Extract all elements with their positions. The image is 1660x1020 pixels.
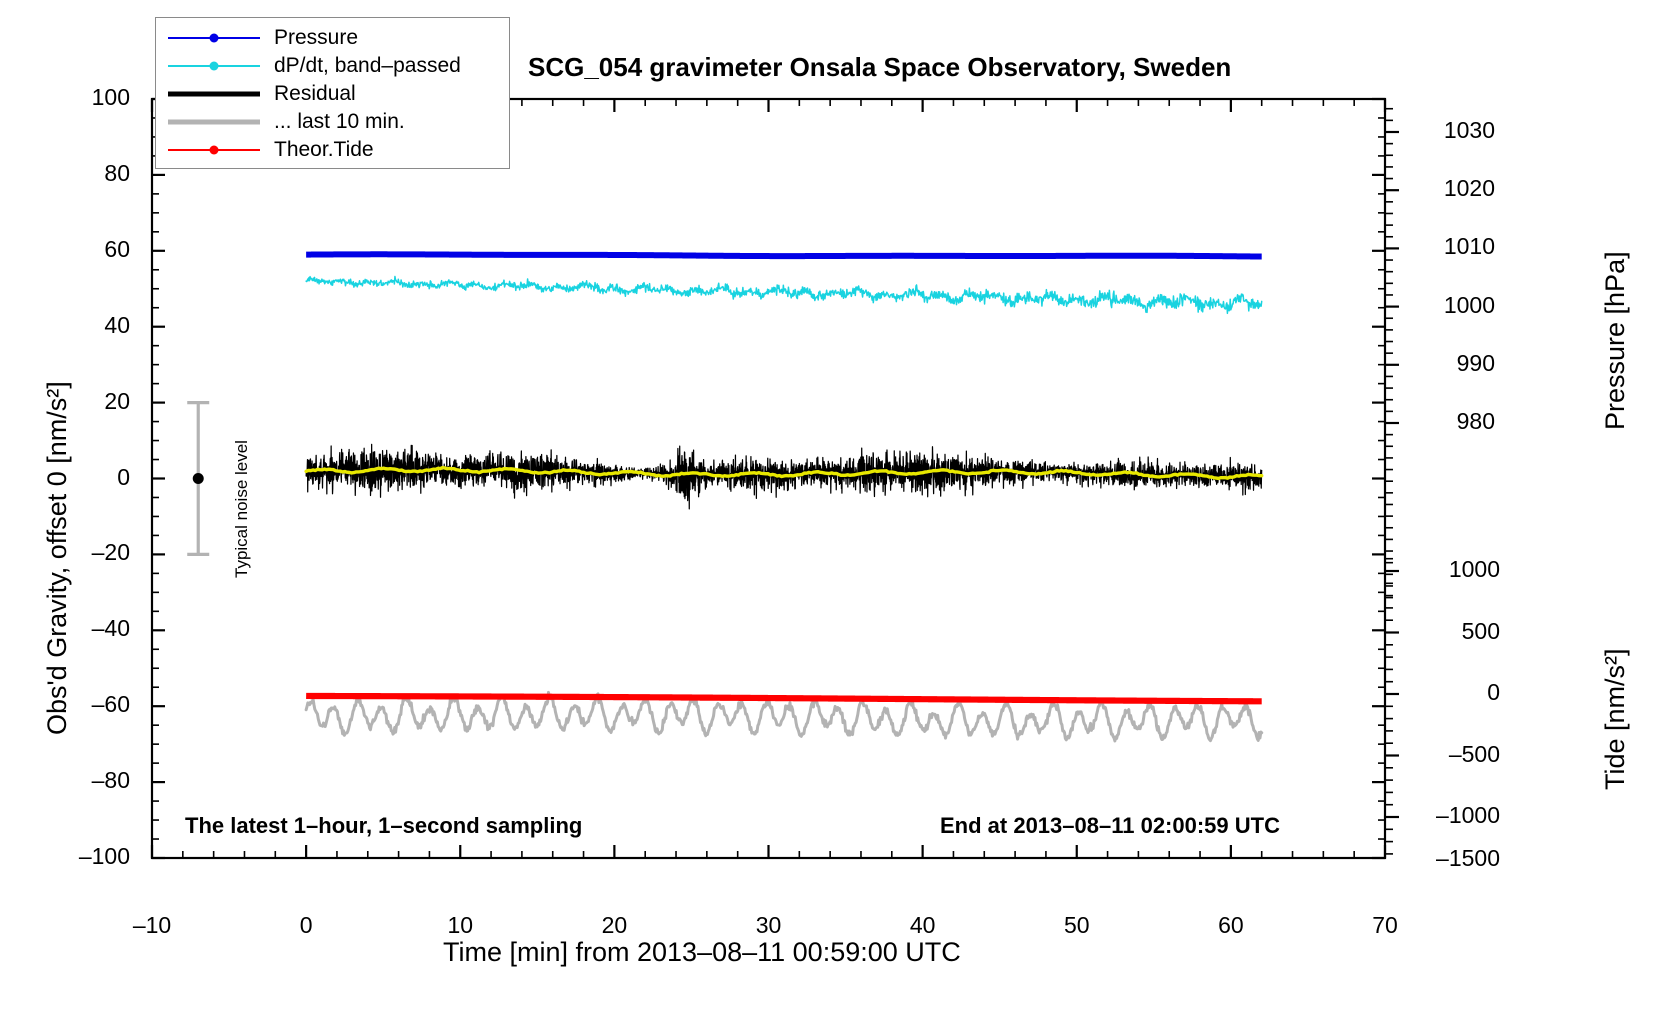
x-tick-label: 70 bbox=[1345, 912, 1425, 939]
tide-tick-label: –500 bbox=[1405, 741, 1500, 768]
legend-swatch-pressure bbox=[168, 31, 260, 45]
y-tick-label: –40 bbox=[0, 615, 130, 642]
noise-bar-center-dot bbox=[193, 473, 204, 484]
y-tick-label: 60 bbox=[0, 236, 130, 263]
series-pressure bbox=[306, 254, 1262, 256]
legend-label-pressure: Pressure bbox=[274, 26, 358, 50]
x-tick-label: 40 bbox=[883, 912, 963, 939]
legend-item-dpdt[interactable]: dP/dt, band–passed bbox=[156, 52, 509, 80]
legend-label-theor-tide: Theor.Tide bbox=[274, 138, 374, 162]
legend-label-residual: Residual bbox=[274, 82, 356, 106]
chart-legend: Pressure dP/dt, band–passed Residual ...… bbox=[155, 17, 510, 169]
pressure-tick-label: 1000 bbox=[1405, 292, 1495, 319]
x-tick-label: 0 bbox=[266, 912, 346, 939]
tide-tick-label: –1000 bbox=[1405, 802, 1500, 829]
right-axis-label-tide: Tide [nm/s²] bbox=[1600, 648, 1631, 790]
y-tick-label: 80 bbox=[0, 160, 130, 187]
legend-swatch-last10 bbox=[168, 115, 260, 129]
tide-tick-label: 500 bbox=[1405, 618, 1500, 645]
series-dpdt-band-passed bbox=[306, 276, 1262, 313]
legend-swatch-residual bbox=[168, 87, 260, 101]
chart-page: SCG_054 gravimeter Onsala Space Observat… bbox=[0, 0, 1660, 1020]
x-tick-label: 30 bbox=[729, 912, 809, 939]
legend-item-residual[interactable]: Residual bbox=[156, 80, 509, 108]
x-axis-label: Time [min] from 2013–08–11 00:59:00 UTC bbox=[443, 937, 961, 968]
chart-title: SCG_054 gravimeter Onsala Space Observat… bbox=[528, 52, 1231, 83]
y-tick-label: 40 bbox=[0, 312, 130, 339]
x-tick-label: –10 bbox=[112, 912, 192, 939]
y-tick-label: –80 bbox=[0, 767, 130, 794]
x-tick-label: 10 bbox=[420, 912, 500, 939]
pressure-tick-label: 1010 bbox=[1405, 233, 1495, 260]
pressure-tick-label: 1020 bbox=[1405, 175, 1495, 202]
legend-item-pressure[interactable]: Pressure bbox=[156, 24, 509, 52]
y-tick-label: 0 bbox=[0, 464, 130, 491]
tide-tick-label: 0 bbox=[1405, 679, 1500, 706]
legend-item-theor-tide[interactable]: Theor.Tide bbox=[156, 136, 509, 164]
legend-item-last10[interactable]: ... last 10 min. bbox=[156, 108, 509, 136]
legend-swatch-theor-tide bbox=[168, 143, 260, 157]
y-tick-label: 20 bbox=[0, 388, 130, 415]
y-tick-label: –20 bbox=[0, 539, 130, 566]
typical-noise-level-label: Typical noise level bbox=[232, 440, 252, 578]
x-tick-label: 50 bbox=[1037, 912, 1117, 939]
x-tick-label: 20 bbox=[574, 912, 654, 939]
y-tick-label: 100 bbox=[0, 84, 130, 111]
y-tick-label: –100 bbox=[0, 843, 130, 870]
x-tick-label: 60 bbox=[1191, 912, 1271, 939]
end-time-note: End at 2013–08–11 02:00:59 UTC bbox=[940, 813, 1280, 839]
y-tick-label: –60 bbox=[0, 691, 130, 718]
tide-tick-label: –1500 bbox=[1405, 845, 1500, 872]
pressure-tick-label: 1030 bbox=[1405, 117, 1495, 144]
pressure-tick-label: 990 bbox=[1405, 350, 1495, 377]
right-axis-label-pressure: Pressure [hPa] bbox=[1600, 251, 1631, 430]
sampling-note: The latest 1–hour, 1–second sampling bbox=[185, 813, 582, 839]
tide-tick-label: 1000 bbox=[1405, 556, 1500, 583]
legend-swatch-dpdt bbox=[168, 59, 260, 73]
pressure-tick-label: 980 bbox=[1405, 408, 1495, 435]
legend-label-last10: ... last 10 min. bbox=[274, 110, 405, 134]
legend-label-dpdt: dP/dt, band–passed bbox=[274, 54, 461, 78]
